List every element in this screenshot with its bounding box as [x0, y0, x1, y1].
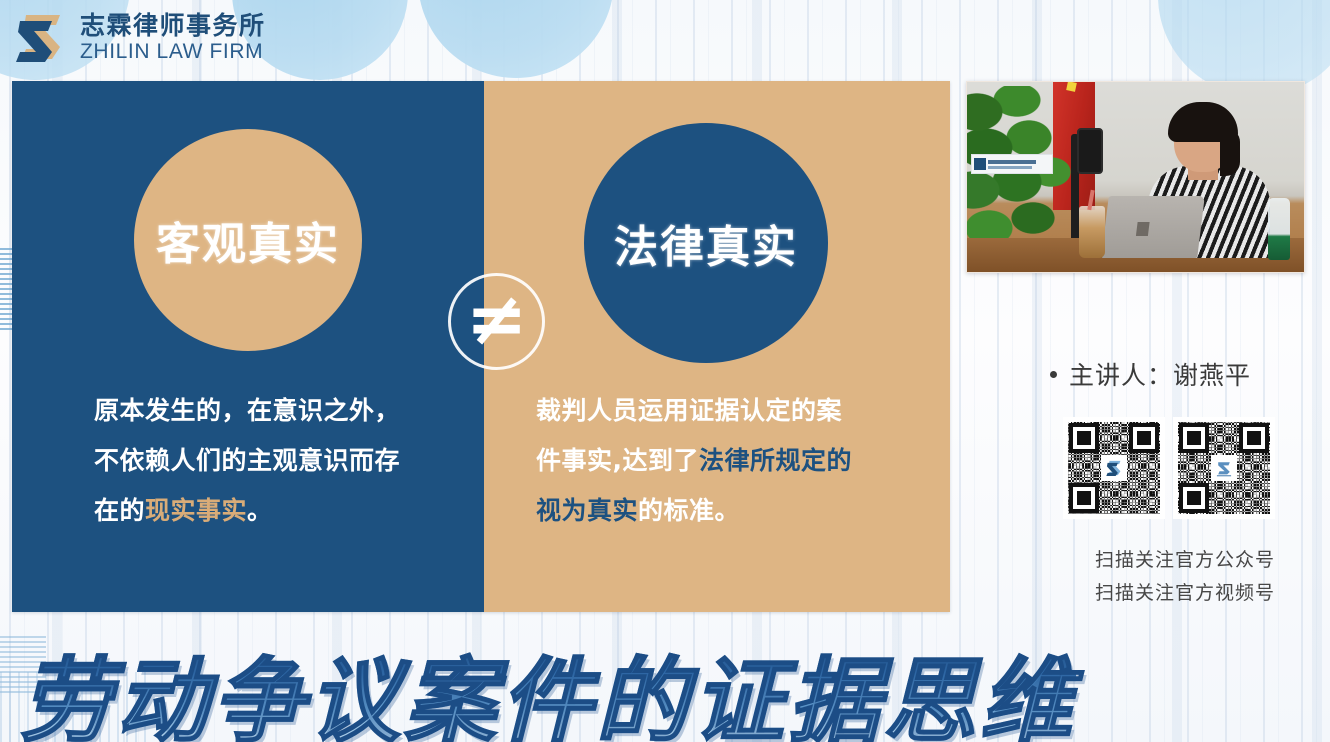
speaker-name-label: 主讲人：谢燕平	[1069, 356, 1251, 392]
qr-center-logo	[1101, 455, 1127, 481]
presentation-stage: 志霖律师事务所 ZHILIN LAW FIRM 客观真实 原本发生的，在意识之外…	[0, 0, 1330, 742]
qr-captions: 扫描关注官方公众号 扫描关注官方视频号	[1050, 545, 1320, 605]
mobile-phone	[1077, 128, 1103, 174]
zhilin-badge-logo-icon	[1215, 459, 1233, 477]
laptop	[1101, 196, 1205, 258]
brand-logo: 志霖律师事务所 ZHILIN LAW FIRM	[12, 9, 266, 65]
right-body-highlight-2: 视为真实	[536, 496, 638, 525]
right-body-line3-suffix: 的标准。	[638, 496, 740, 525]
left-body-line2: 不依赖人们的主观意识而存	[94, 446, 400, 475]
brand-name-en: ZHILIN LAW FIRM	[80, 41, 266, 62]
slide-content-panel: 客观真实 原本发生的，在意识之外， 不依赖人们的主观意识而存 在的现实事实。 法…	[12, 81, 950, 612]
brand-name-cn: 志霖律师事务所	[80, 13, 266, 38]
speaker-webcam-feed[interactable]	[966, 81, 1305, 273]
right-body-highlight-1: 法律所规定的	[699, 446, 852, 475]
right-body-line1: 裁判人员运用证据认定的案	[536, 396, 842, 425]
right-body-line2-prefix: 件事实,达到了	[536, 446, 699, 475]
qr-finder-icon	[1179, 483, 1209, 513]
video-channel-qr[interactable]	[1173, 417, 1275, 519]
brand-logo-text: 志霖律师事务所 ZHILIN LAW FIRM	[80, 13, 266, 62]
desk-sign-text	[988, 160, 1036, 169]
speaker-info: 主讲人：谢燕平	[1050, 356, 1251, 392]
presenter-hair-side	[1220, 128, 1240, 176]
bubble-left-label: 客观真实	[156, 208, 340, 272]
qr-finder-icon	[1069, 423, 1099, 453]
left-body-line3-suffix: 。	[247, 496, 273, 525]
right-panel-body-text: 裁判人员运用证据认定的案 件事实,达到了法律所规定的 视为真实的标准。	[536, 386, 906, 536]
bubble-objective-truth: 客观真实	[134, 129, 362, 351]
official-account-qr[interactable]	[1063, 417, 1165, 519]
zhilin-z-logo-icon	[12, 9, 68, 65]
qr-code-row	[1063, 417, 1275, 519]
qr-caption-video-channel: 扫描关注官方视频号	[1095, 578, 1275, 605]
left-body-line3-prefix: 在的	[94, 496, 145, 525]
slide-left-half: 客观真实 原本发生的，在意识之外， 不依赖人们的主观意识而存 在的现实事实。	[12, 81, 484, 612]
qr-finder-icon	[1179, 423, 1209, 453]
slide-right-half: 法律真实 裁判人员运用证据认定的案 件事实,达到了法律所规定的 视为真实的标准。	[484, 81, 950, 612]
not-equal-icon: ≠	[448, 273, 545, 370]
qr-finder-icon	[1069, 483, 1099, 513]
bubble-legal-truth: 法律真实	[584, 123, 828, 363]
qr-finder-icon	[1129, 423, 1159, 453]
qr-center-logo	[1211, 455, 1237, 481]
zhilin-z-logo-icon	[1105, 459, 1123, 477]
not-equal-glyph: ≠	[465, 282, 527, 356]
bubble-right-label: 法律真实	[614, 211, 798, 275]
qr-caption-official-account: 扫描关注官方公众号	[1095, 545, 1275, 572]
drink-cup	[1079, 206, 1105, 258]
qr-finder-icon	[1239, 423, 1269, 453]
desk-brand-sign	[971, 154, 1053, 174]
footer-wordart-title: 劳动争议案件的证据思维	[20, 627, 1076, 742]
desk-sign-logo-icon	[974, 158, 986, 170]
left-body-highlight: 现实事实	[145, 496, 247, 525]
left-panel-body-text: 原本发生的，在意识之外， 不依赖人们的主观意识而存 在的现实事实。	[94, 386, 454, 536]
left-body-line1: 原本发生的，在意识之外，	[94, 396, 400, 425]
water-bottle	[1268, 198, 1290, 260]
bullet-icon	[1050, 371, 1057, 378]
